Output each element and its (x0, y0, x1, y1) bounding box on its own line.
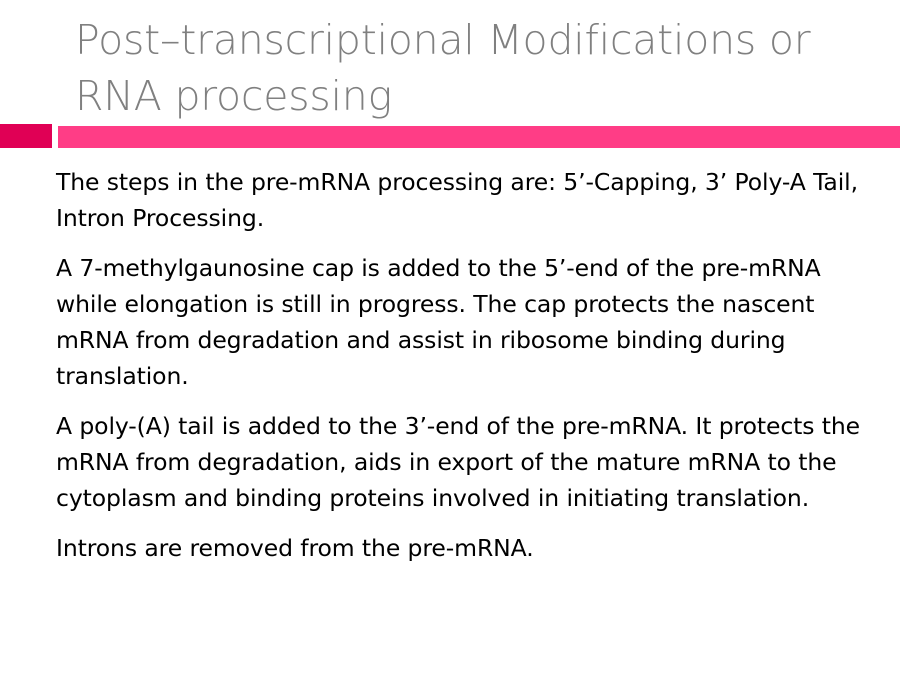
hollow-square-bullet-icon (26, 420, 35, 429)
title-accent-divider (0, 124, 900, 148)
list-item: Introns are removed from the pre-mRNA. (22, 530, 878, 566)
hollow-square-bullet-icon (26, 542, 35, 551)
slide-title-line-2: RNA processing (75, 68, 875, 124)
accent-square-block (0, 124, 52, 148)
hollow-square-bullet-icon (26, 176, 35, 185)
list-item-text: A poly-(A) tail is added to the 3’-end o… (56, 408, 878, 516)
slide-body-bullet-list: The steps in the pre-mRNA processing are… (22, 164, 878, 566)
list-item-text: The steps in the pre-mRNA processing are… (56, 164, 878, 236)
list-item: A poly-(A) tail is added to the 3’-end o… (22, 408, 878, 516)
accent-horizontal-bar (58, 126, 900, 148)
slide-title: Post–transcriptional Modifications or RN… (75, 12, 875, 124)
list-item-text: A 7-methylgaunosine cap is added to the … (56, 250, 878, 394)
list-item: The steps in the pre-mRNA processing are… (22, 164, 878, 236)
slide-title-line-1: Post–transcriptional Modifications or (75, 12, 875, 68)
hollow-square-bullet-icon (26, 262, 35, 271)
presentation-slide: Post–transcriptional Modifications or RN… (0, 0, 900, 675)
list-item: A 7-methylgaunosine cap is added to the … (22, 250, 878, 394)
list-item-text: Introns are removed from the pre-mRNA. (56, 530, 878, 566)
